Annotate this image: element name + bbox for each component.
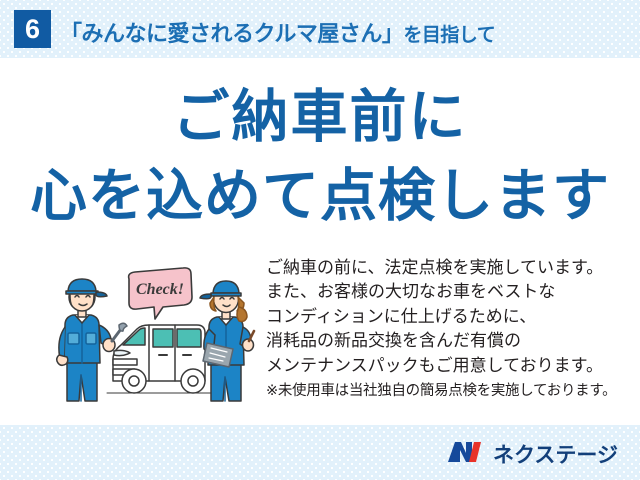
two-mechanics-with-van-illustration: Check! [55,263,260,403]
left-mechanic-figure [57,279,127,401]
right-mechanic-figure [200,281,254,401]
body-line: また、お客様の大切なお車をベストな [266,280,626,304]
brand-logo: ネクステージ [446,439,618,469]
section-number-label: 6 [25,16,40,43]
hero-heading-line-2: 心を込めて点検します [0,168,640,225]
check-bubble-label: Check! [136,281,184,298]
header-title-tail: を目指して [403,25,495,46]
page-background: 6 「みんなに愛されるクルマ屋さん」を目指して ご納車前に 心を込めて点検します [0,0,640,480]
footer: ネクステージ [0,425,640,480]
section-number-badge: 6 [14,10,51,48]
body-line: メンテナンスパックもご用意しております。 [266,354,626,378]
header-title: 「みんなに愛されるクルマ屋さん」を目指して [60,16,495,48]
hero-heading-line-1: ご納車前に [0,89,640,146]
header: 6 「みんなに愛されるクルマ屋さん」を目指して [0,0,640,58]
body-line: 消耗品の新品交換を含んだ有償の [266,329,626,353]
body-line: ご納車の前に、法定点検を実施しています。 [266,256,626,280]
header-title-quoted: 「みんなに愛されるクルマ屋さん」 [60,21,403,46]
content-card: ご納車前に 心を込めて点検します [0,58,640,425]
van-illustration [107,325,215,393]
check-speech-bubble: Check! [129,268,192,319]
body-line: コンディションに仕上げるために、 [266,305,626,329]
nexstage-n-icon [446,440,486,469]
brand-name-label: ネクステージ [493,439,618,469]
body-note: ※未使用車は当社独自の簡易点検を実施しております。 [266,380,626,402]
body-copy: ご納車の前に、法定点検を実施しています。 また、お客様の大切なお車をベストな コ… [266,256,626,402]
